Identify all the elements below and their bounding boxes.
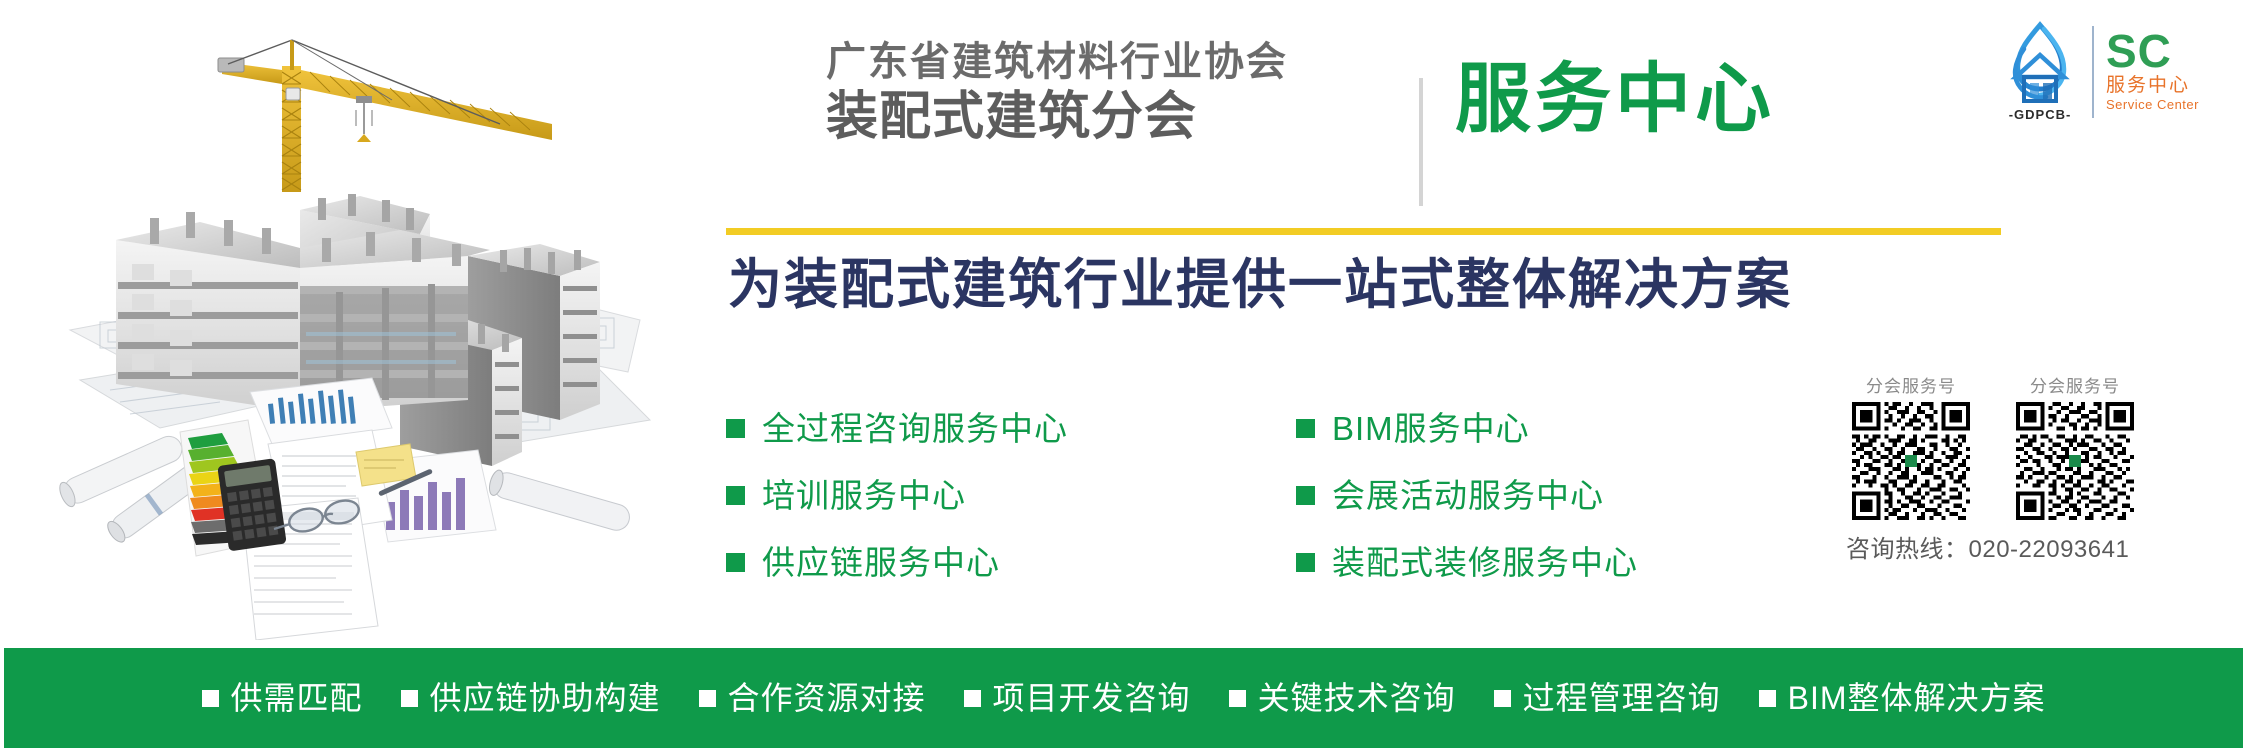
service-item-label: 装配式装修服务中心 bbox=[1332, 546, 1638, 579]
construction-site-3d-render bbox=[0, 0, 660, 640]
square-bullet-icon bbox=[401, 690, 418, 707]
capability-item-key-technology-consulting[interactable]: 关键技术咨询 bbox=[1229, 682, 1456, 714]
capability-item-bim-total-solution[interactable]: BIM整体解决方案 bbox=[1759, 682, 2046, 714]
square-bullet-icon bbox=[699, 690, 716, 707]
square-bullet-icon bbox=[726, 553, 745, 572]
square-bullet-icon bbox=[726, 486, 745, 505]
gold-horizontal-rule bbox=[726, 228, 2001, 235]
capability-item-supply-demand-matching[interactable]: 供需匹配 bbox=[202, 682, 363, 714]
svg-text:-GDPCB-: -GDPCB- bbox=[2009, 107, 2072, 122]
service-list-right-column: BIM服务中心 会展活动服务中心 装配式装修服务中心 bbox=[1296, 395, 1638, 596]
capability-label: 供应链协助构建 bbox=[430, 682, 661, 714]
square-bullet-icon bbox=[1229, 690, 1246, 707]
logo-english-label: Service Center bbox=[2106, 97, 2234, 114]
capability-label: 关键技术咨询 bbox=[1258, 682, 1456, 714]
service-item-label: 供应链服务中心 bbox=[762, 546, 1000, 579]
capability-label: 项目开发咨询 bbox=[993, 682, 1191, 714]
square-bullet-icon bbox=[1296, 419, 1315, 438]
service-item-label: 培训服务中心 bbox=[762, 479, 966, 512]
service-item-label: BIM服务中心 bbox=[1332, 412, 1530, 445]
qr-caption: 分会服务号 bbox=[2010, 378, 2140, 395]
service-item-exhibition-events[interactable]: 会展活动服务中心 bbox=[1296, 462, 1638, 529]
brand-logo-lockup[interactable]: -GDPCB- SC 服务中心 Service Center bbox=[1994, 16, 2234, 128]
capability-item-partner-resource-matching[interactable]: 合作资源对接 bbox=[699, 682, 926, 714]
page-title: 为装配式建筑行业提供一站式整体解决方案 bbox=[728, 253, 1792, 318]
service-item-prefab-decoration[interactable]: 装配式装修服务中心 bbox=[1296, 529, 1638, 596]
capability-label: BIM整体解决方案 bbox=[1788, 682, 2046, 714]
square-bullet-icon bbox=[726, 419, 745, 438]
qr-code-icon[interactable] bbox=[2016, 402, 2134, 520]
service-item-bim[interactable]: BIM服务中心 bbox=[1296, 395, 1638, 462]
capability-item-process-management-consulting[interactable]: 过程管理咨询 bbox=[1494, 682, 1721, 714]
gdpcb-flame-house-icon: -GDPCB- bbox=[1994, 19, 2086, 125]
header-vertical-divider bbox=[1419, 78, 1423, 206]
logo-chinese-label: 服务中心 bbox=[2106, 74, 2234, 98]
service-item-label: 全过程咨询服务中心 bbox=[762, 412, 1068, 445]
contact-block: 分会服务号 bbox=[1846, 378, 2216, 562]
square-bullet-icon bbox=[1296, 486, 1315, 505]
service-item-supply-chain[interactable]: 供应链服务中心 bbox=[726, 529, 1068, 596]
qr-code-row: 分会服务号 bbox=[1846, 378, 2216, 520]
qr-caption: 分会服务号 bbox=[1846, 378, 1976, 395]
square-bullet-icon bbox=[964, 690, 981, 707]
tower-crane-icon bbox=[218, 40, 552, 192]
capability-label: 合作资源对接 bbox=[728, 682, 926, 714]
calculator-icon bbox=[217, 458, 286, 551]
capabilities-list: 供需匹配 供应链协助构建 合作资源对接 项目开发咨询 关键技术咨询 过程管理咨询 bbox=[183, 682, 2065, 714]
qr-code-cell-2[interactable]: 分会服务号 bbox=[2010, 378, 2140, 520]
qr-code-cell-1[interactable]: 分会服务号 bbox=[1846, 378, 1976, 520]
capability-item-project-development-consulting[interactable]: 项目开发咨询 bbox=[964, 682, 1191, 714]
logo-divider bbox=[2092, 26, 2094, 118]
service-item-label: 会展活动服务中心 bbox=[1332, 479, 1604, 512]
service-item-training[interactable]: 培训服务中心 bbox=[726, 462, 1068, 529]
capability-item-supply-chain-building[interactable]: 供应链协助构建 bbox=[401, 682, 661, 714]
association-name-block: 广东省建筑材料行业协会 装配式建筑分会 bbox=[826, 40, 1426, 146]
service-list-left-column: 全过程咨询服务中心 培训服务中心 供应链服务中心 bbox=[726, 395, 1068, 596]
association-name-line2: 装配式建筑分会 bbox=[826, 89, 1426, 146]
capability-label: 过程管理咨询 bbox=[1523, 682, 1721, 714]
service-center-banner: 广东省建筑材料行业协会 装配式建筑分会 服务中心 为装配式建筑行业提供一站式整体… bbox=[0, 0, 2246, 752]
square-bullet-icon bbox=[1759, 690, 1776, 707]
capability-label: 供需匹配 bbox=[231, 682, 363, 714]
square-bullet-icon bbox=[202, 690, 219, 707]
square-bullet-icon bbox=[1494, 690, 1511, 707]
logo-sc-abbreviation: SC bbox=[2106, 30, 2234, 74]
service-center-title: 服务中心 bbox=[1455, 62, 1775, 138]
capabilities-bar: 供需匹配 供应链协助构建 合作资源对接 项目开发咨询 关键技术咨询 过程管理咨询 bbox=[4, 648, 2243, 748]
square-bullet-icon bbox=[1296, 553, 1315, 572]
qr-code-icon[interactable] bbox=[1852, 402, 1970, 520]
hotline-text: 咨询热线：020-22093641 bbox=[1846, 538, 2216, 562]
service-item-full-process-consulting[interactable]: 全过程咨询服务中心 bbox=[726, 395, 1068, 462]
association-name-line1: 广东省建筑材料行业协会 bbox=[826, 40, 1426, 85]
